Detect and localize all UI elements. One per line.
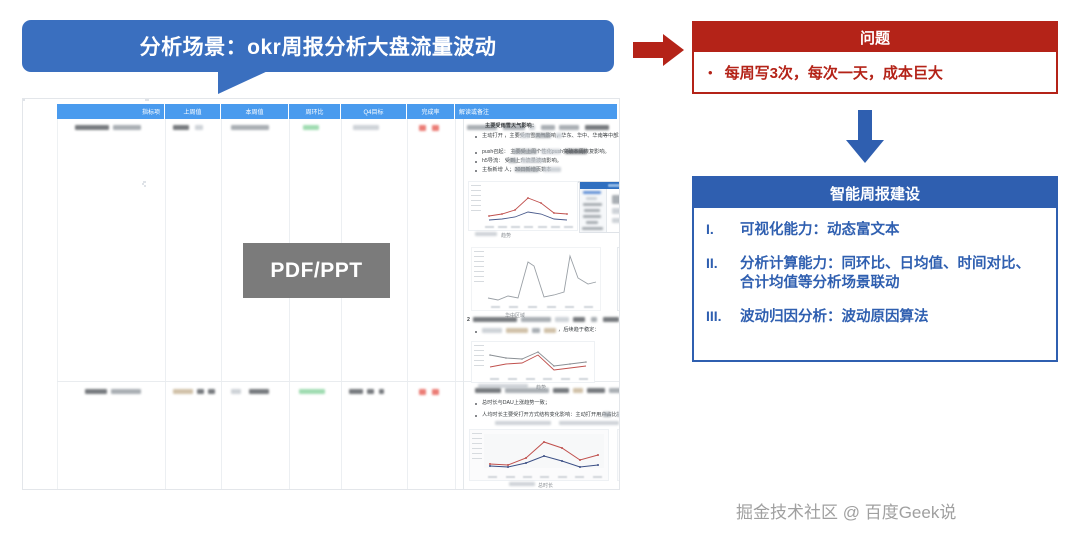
solution-item-3-number: III.	[706, 308, 740, 328]
table-col-header-5: 完成率	[407, 104, 455, 119]
redacted-cell	[173, 389, 193, 394]
redacted-text	[543, 167, 561, 172]
section-3-bullet-2: 人均时长主要受打开方式结构变化影响：主动打开用户占比提升，贡献人均时长	[482, 412, 620, 418]
china-map-chart	[617, 247, 620, 311]
solution-item-1: I. 可视化能力：动态富文本	[706, 221, 1042, 241]
redacted-cell	[197, 389, 204, 394]
redacted-text	[505, 388, 549, 393]
solution-item-2-number: II.	[706, 255, 740, 294]
redacted-cell	[299, 389, 325, 394]
banner-tail-triangle	[218, 70, 270, 94]
solution-card-header: 智能周报建设	[694, 178, 1056, 208]
redacted-text	[532, 328, 540, 333]
avg-duration-chart-svg	[618, 430, 620, 480]
x-axis-ticks	[484, 476, 606, 479]
scenario-banner: 分析场景：okr周报分析大盘流量波动	[22, 20, 614, 72]
redacted-cell	[111, 389, 141, 394]
redacted-text	[506, 328, 528, 333]
solution-item-3: III. 波动归因分析：波动原因算法	[706, 308, 1042, 328]
pdf-ppt-label: PDF/PPT	[270, 259, 362, 283]
section-2-number: 2	[467, 317, 470, 323]
redacted-cell	[612, 218, 620, 223]
status-chip	[432, 389, 439, 395]
redacted-cell	[249, 389, 269, 394]
problem-card-body: • 每周写3次，每次一天，成本巨大	[694, 52, 1056, 92]
problem-card: 问题 • 每周写3次，每次一天，成本巨大	[692, 21, 1058, 94]
report-table-header: 指标项 上周值 本周值 周环比 Q4目标 完成率 解读或备注	[57, 104, 617, 119]
redacted-text	[515, 167, 539, 172]
redacted-text	[591, 317, 597, 322]
redacted-text	[587, 388, 605, 393]
redacted-text	[509, 158, 517, 163]
slide-canvas: 分析场景：okr周报分析大盘流量波动 指标项 上周值 本周值 周环比 Q4目标 …	[0, 0, 1080, 541]
red-right-arrow-svg	[633, 33, 685, 67]
problem-card-title: 问题	[860, 27, 890, 48]
solution-card-body: I. 可视化能力：动态富文本 II. 分析计算能力：同环比、日均值、时间对比、合…	[694, 208, 1056, 327]
redacted-cell	[113, 125, 141, 130]
redacted-text	[541, 125, 555, 130]
redacted-text	[603, 317, 619, 322]
notes-heading: 主要受雨雪天气影响：	[485, 123, 537, 129]
table-column-divider	[407, 119, 408, 489]
redacted-cell	[612, 195, 620, 204]
redacted-row	[583, 203, 602, 206]
redacted-cell	[303, 125, 319, 130]
section-3-bullet-1: 总时长与DAU上涨趋势一致；	[482, 400, 550, 406]
redacted-cell	[208, 389, 215, 394]
pdf-ppt-badge: PDF/PPT	[243, 243, 390, 298]
redacted-text	[573, 317, 585, 322]
redacted-text	[544, 328, 556, 333]
redacted-text	[585, 125, 609, 130]
spacer18	[23, 99, 25, 101]
redacted-widget-title	[608, 184, 620, 187]
solution-card-title: 智能周报建设	[830, 183, 920, 204]
section-2-bullet: ，后续趋于稳定：	[558, 327, 600, 333]
x-axis-ticks	[486, 306, 598, 309]
redacted-text	[559, 125, 579, 130]
redacted-cell	[612, 208, 620, 214]
redacted-cell	[85, 389, 107, 394]
redacted-cell	[75, 125, 109, 130]
problem-card-header: 问题	[694, 23, 1056, 52]
redacted-cell	[353, 125, 379, 130]
redacted-cell	[231, 125, 269, 130]
solution-item-2-text: 分析计算能力：同环比、日均值、时间对比、合计均值等分析场景联动	[740, 255, 1042, 294]
notes-line-1: 主动打开 ，主要受雨雪天气影响，华东、华中、华南等中部地区于10号、11号出现降…	[482, 133, 620, 139]
scenario-banner-body: 分析场景：okr周报分析大盘流量波动	[22, 20, 614, 72]
red-right-arrow-icon	[633, 33, 685, 67]
bullet-icon: •	[708, 66, 713, 79]
solution-item-1-text: 可视化能力：动态富文本	[740, 221, 900, 241]
status-chip	[419, 125, 426, 131]
redacted-text	[556, 133, 562, 138]
trend-chart-1	[468, 181, 578, 231]
redacted-row	[584, 209, 600, 212]
x-axis-ticks	[483, 226, 575, 229]
widget-title-bar	[580, 182, 620, 189]
redacted-text	[473, 317, 517, 322]
embedded-table-widget[interactable]	[579, 181, 620, 233]
total-duration-chart	[469, 429, 609, 481]
trend-chart-2-svg	[472, 342, 594, 382]
avg-duration-chart	[617, 429, 620, 481]
table-column-divider	[463, 119, 464, 489]
spacer29	[143, 181, 145, 183]
y-axis-ticks	[471, 185, 481, 215]
table-column-divider	[455, 119, 456, 489]
redacted-text	[553, 388, 569, 393]
table-col-header-1: 上周值	[165, 104, 221, 119]
table-column-divider	[165, 119, 166, 489]
redacted-text	[555, 317, 569, 322]
status-chip	[419, 389, 426, 395]
redacted-cell	[367, 389, 374, 394]
redacted-cell	[195, 125, 203, 130]
redacted-text	[521, 158, 543, 163]
y-axis-ticks	[474, 345, 484, 370]
redacted-text	[513, 149, 537, 154]
precipitation-trend-chart	[471, 247, 601, 311]
redacted-row	[586, 221, 598, 224]
redacted-text	[565, 149, 587, 154]
redacted-cell	[379, 389, 384, 394]
trend-chart-1-svg	[469, 182, 577, 230]
bullet-dot	[475, 170, 477, 172]
redacted-text	[482, 328, 502, 333]
widget-sidebar	[580, 189, 607, 232]
solution-item-1-number: I.	[706, 221, 740, 241]
solution-item-2: II. 分析计算能力：同环比、日均值、时间对比、合计均值等分析场景联动	[706, 255, 1042, 294]
chart-caption-1: 趋势	[501, 232, 511, 239]
y-axis-ticks	[474, 251, 484, 286]
table-column-divider	[341, 119, 342, 489]
solution-card: 智能周报建设 I. 可视化能力：动态富文本 II. 分析计算能力：同环比、日均值…	[692, 176, 1058, 362]
blue-down-arrow-svg	[845, 110, 885, 164]
redacted-text	[541, 149, 561, 154]
table-col-header-2: 本周值	[221, 104, 289, 119]
redacted-row	[583, 215, 601, 218]
table-col-header-3: 周环比	[289, 104, 341, 119]
redacted-row	[582, 227, 603, 230]
chart-caption-6: 总时长	[538, 482, 553, 489]
bullet-dot	[475, 331, 477, 333]
precipitation-chart-svg	[472, 248, 600, 310]
bullet-dot	[475, 161, 477, 163]
redacted-text	[573, 388, 583, 393]
redacted-caption	[475, 232, 497, 236]
spacer11	[147, 99, 149, 101]
table-col-header-6: 解读或备注	[455, 104, 617, 119]
total-duration-chart-svg	[470, 430, 608, 480]
redacted-text	[520, 133, 530, 138]
redacted-text	[609, 388, 620, 393]
china-map-svg	[618, 248, 620, 310]
redacted-text	[535, 133, 551, 138]
redacted-row	[586, 197, 597, 200]
redacted-text	[495, 421, 551, 425]
redacted-cell	[173, 125, 189, 130]
redacted-cell	[231, 389, 241, 394]
table-column-divider	[57, 119, 58, 489]
bullet-dot	[475, 403, 477, 405]
watermark: 掘金技术社区 @ 百度Geek说	[736, 498, 956, 523]
solution-item-3-text: 波动归因分析：波动原因算法	[740, 308, 929, 328]
redacted-text	[559, 421, 619, 425]
page-title: 分析场景：okr周报分析大盘流量波动	[140, 31, 497, 61]
trend-chart-2	[471, 341, 595, 383]
problem-bullet-1: 每周写3次，每次一天，成本巨大	[725, 62, 943, 83]
redacted-caption	[509, 482, 535, 486]
redacted-text	[603, 412, 611, 417]
redacted-text	[475, 388, 501, 393]
bullet-dot	[475, 152, 477, 154]
y-axis-ticks	[472, 433, 482, 463]
x-axis-ticks	[486, 378, 592, 381]
redacted-cell	[349, 389, 363, 394]
redacted-text	[617, 412, 620, 417]
redacted-row	[583, 191, 601, 194]
table-col-header-4: Q4目标	[341, 104, 407, 119]
bullet-dot	[475, 136, 477, 138]
table-column-divider	[221, 119, 222, 489]
spacer13	[144, 185, 146, 187]
table-column-divider	[289, 119, 290, 489]
status-chip	[432, 125, 439, 131]
bullet-dot	[475, 415, 477, 417]
blue-down-arrow-icon	[845, 110, 885, 164]
redacted-text	[521, 317, 551, 322]
table-col-header-0: 指标项	[57, 104, 165, 119]
spacer15	[142, 183, 144, 185]
